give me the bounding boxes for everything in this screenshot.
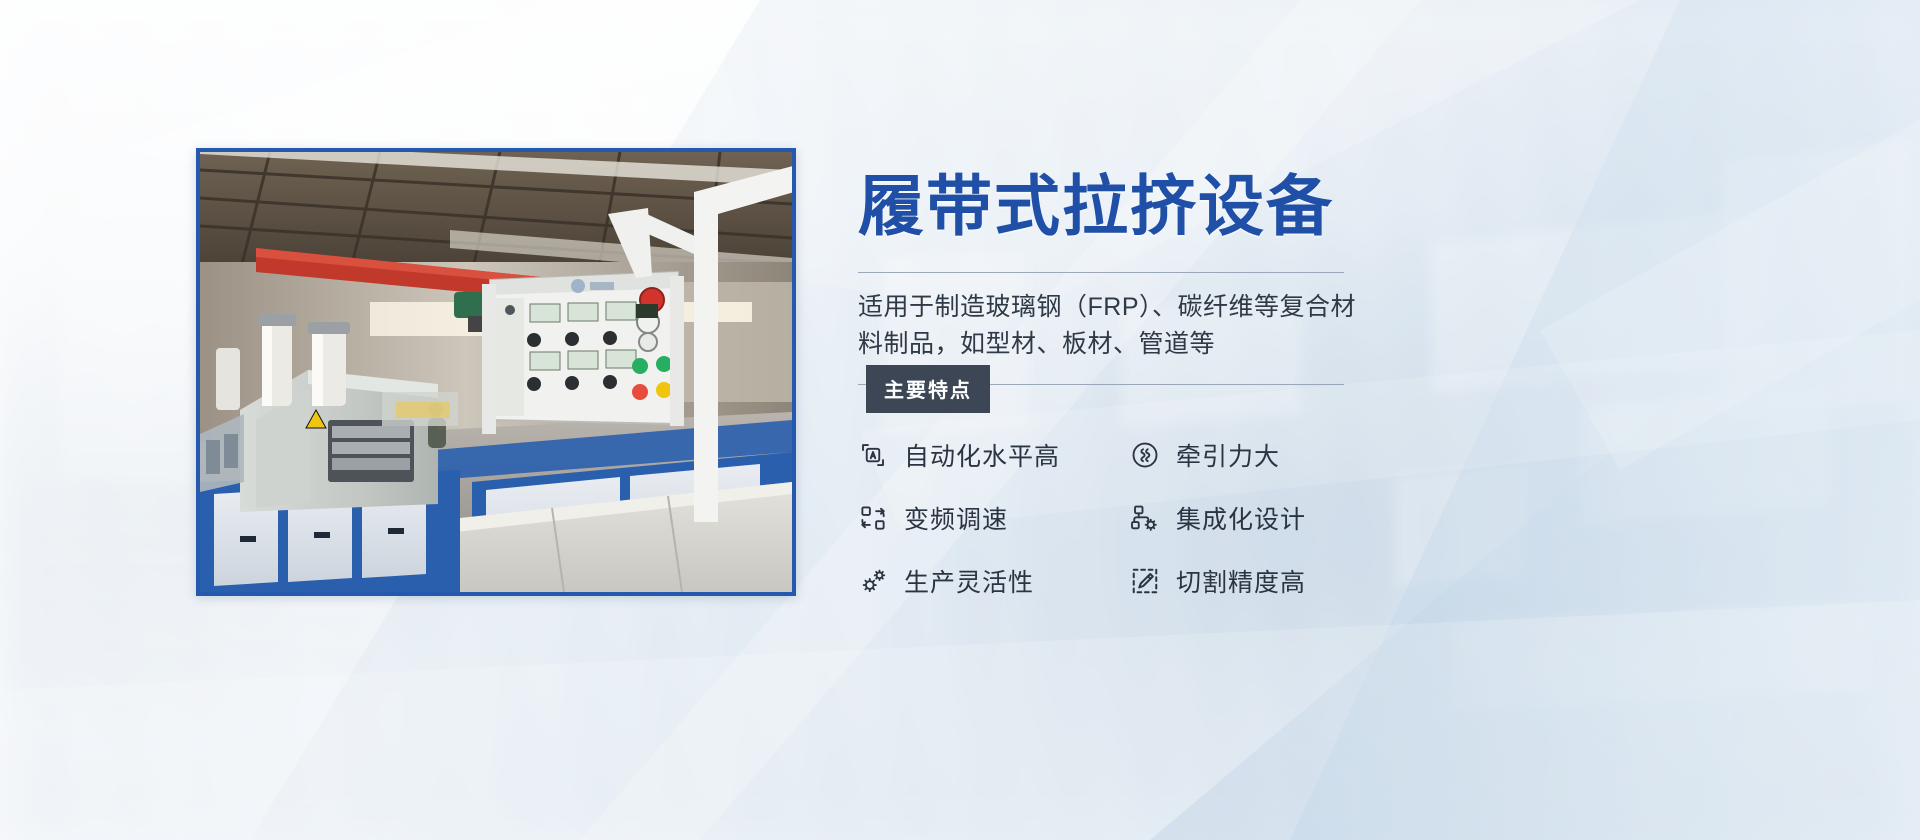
- feature-item-automation[interactable]: 自动化水平高: [858, 437, 1130, 473]
- feature-item-vfd[interactable]: 变频调速: [858, 500, 1130, 536]
- product-description: 适用于制造玻璃钢（FRP）、碳纤维等复合材 料制品，如型材、板材、管道等: [858, 289, 1358, 364]
- double-gear-icon: [858, 566, 888, 596]
- description-line-2: 料制品，如型材、板材、管道等: [858, 326, 1358, 364]
- feature-label: 牵引力大: [1176, 437, 1280, 473]
- page-title: 履带式拉挤设备: [858, 172, 1358, 242]
- feature-item-integration[interactable]: 集成化设计: [1130, 500, 1402, 536]
- dashed-pen-icon: [1130, 566, 1160, 596]
- product-banner: 履带式拉挤设备 适用于制造玻璃钢（FRP）、碳纤维等复合材 料制品，如型材、板材…: [0, 0, 1920, 840]
- hierarchy-gear-icon: [1130, 503, 1160, 533]
- banner-content: 履带式拉挤设备 适用于制造玻璃钢（FRP）、碳纤维等复合材 料制品，如型材、板材…: [858, 150, 1358, 599]
- feature-label: 切割精度高: [1176, 563, 1306, 599]
- feature-label: 生产灵活性: [904, 563, 1034, 599]
- section-badge: 主要特点: [866, 365, 990, 413]
- feature-label: 集成化设计: [1176, 500, 1306, 536]
- heat-waves-circle-icon: [1130, 440, 1160, 470]
- product-photo: [200, 152, 792, 592]
- product-photo-card[interactable]: [196, 148, 796, 596]
- feature-item-flexibility[interactable]: 生产灵活性: [858, 563, 1130, 599]
- feature-list: 自动化水平高 牵引力大: [858, 437, 1402, 599]
- node-swap-icon: [858, 503, 888, 533]
- feature-item-cutting-precision[interactable]: 切割精度高: [1130, 563, 1402, 599]
- feature-item-traction[interactable]: 牵引力大: [1130, 437, 1402, 473]
- letter-a-frame-icon: [858, 440, 888, 470]
- feature-label: 自动化水平高: [904, 437, 1060, 473]
- feature-label: 变频调速: [904, 500, 1008, 536]
- divider-top: [858, 272, 1344, 273]
- description-line-1: 适用于制造玻璃钢（FRP）、碳纤维等复合材: [858, 289, 1358, 327]
